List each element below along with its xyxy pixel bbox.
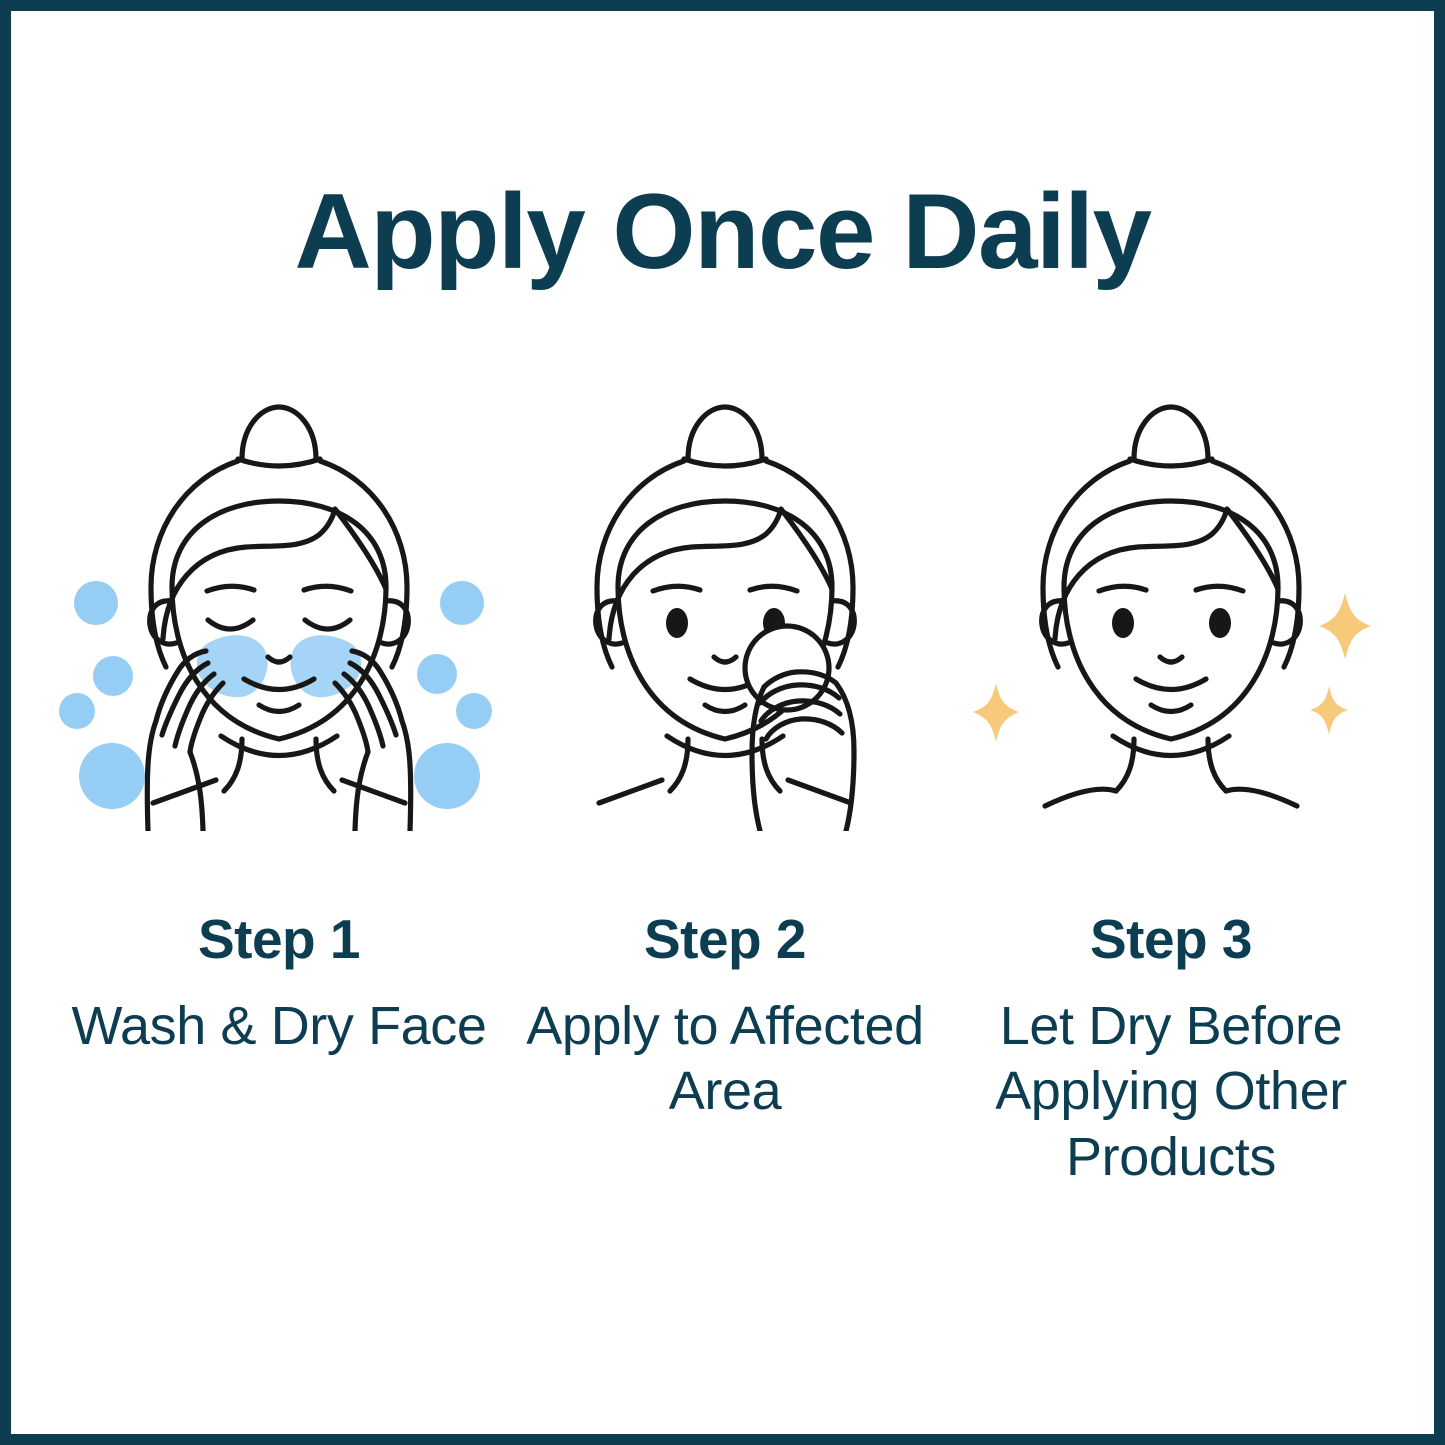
step-column-1: Step 1 Wash & Dry Face	[56, 391, 502, 1059]
step-description-1: Wash & Dry Face	[71, 994, 486, 1060]
page-title: Apply Once Daily	[11, 175, 1434, 287]
bubble-icon	[417, 654, 457, 694]
sparkle-icon	[973, 683, 1019, 742]
illustration-clean-face-sparkles-icon	[948, 391, 1394, 831]
bubble-icon	[456, 693, 492, 729]
step-label-1: Step 1	[198, 909, 360, 970]
bubble-icon	[74, 581, 118, 625]
infographic-page: Apply Once Daily	[0, 0, 1445, 1445]
step-label-2: Step 2	[644, 909, 806, 970]
content-area: Apply Once Daily	[11, 11, 1434, 1434]
bubble-icon	[440, 581, 484, 625]
eye-icon	[666, 608, 688, 638]
step-column-2: Step 2 Apply to Affected Area	[502, 391, 948, 1125]
step-description-2: Apply to Affected Area	[505, 994, 945, 1126]
illustration-apply-cotton-pad-icon	[502, 391, 948, 831]
bubble-icon	[79, 743, 145, 809]
step-column-3: Step 3 Let Dry Before Applying Other Pro…	[948, 391, 1394, 1191]
eye-icon	[1112, 608, 1134, 638]
illustration-wash-face-icon	[56, 391, 502, 831]
sparkle-icon	[1310, 686, 1348, 735]
sparkle-icon	[1319, 593, 1371, 659]
bubble-icon	[414, 743, 480, 809]
bubble-icon	[59, 693, 95, 729]
step-label-3: Step 3	[1090, 909, 1252, 970]
eye-icon	[1209, 608, 1231, 638]
step-description-3: Let Dry Before Applying Other Products	[951, 994, 1391, 1192]
bubble-icon	[93, 656, 133, 696]
steps-row: Step 1 Wash & Dry Face	[56, 391, 1389, 1191]
